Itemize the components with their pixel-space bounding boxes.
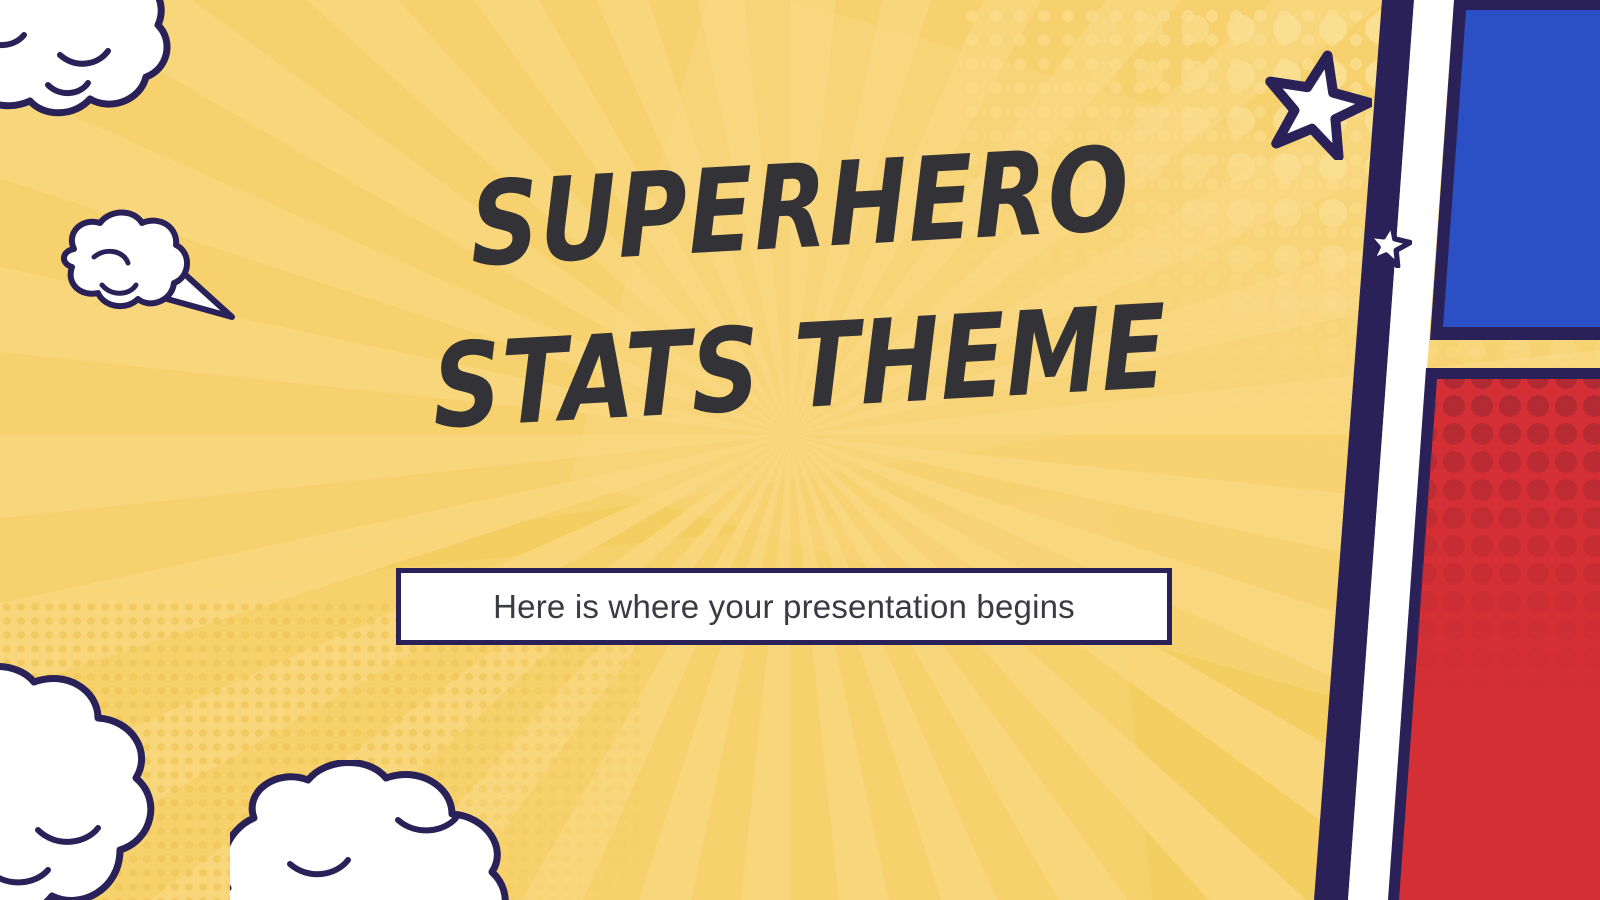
- subtitle-box[interactable]: Here is where your presentation begins: [396, 568, 1172, 645]
- cloud-speed-puff: [50, 205, 250, 345]
- cloud-bottom-left-b: [230, 760, 550, 900]
- star-small-icon: [1364, 220, 1412, 268]
- title-line-1: SUPERHERO: [143, 114, 1458, 302]
- presentation-slide: SUPERHERO STATS THEME Here is where your…: [0, 0, 1600, 900]
- panel-blue: [1443, 10, 1600, 327]
- title-line-2: STATS THEME: [143, 274, 1458, 462]
- subtitle-text: Here is where your presentation begins: [493, 588, 1075, 626]
- cloud-top-left: [0, 0, 200, 155]
- star-large-icon: [1262, 50, 1372, 160]
- panel-red-halftone: [1412, 379, 1600, 700]
